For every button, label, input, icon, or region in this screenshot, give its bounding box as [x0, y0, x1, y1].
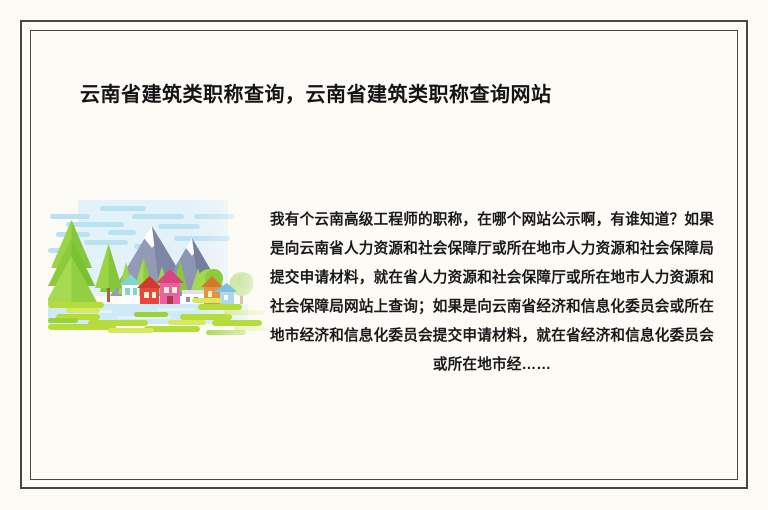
article-excerpt: 我有个云南高级工程师的职称，在哪个网站公示啊，有谁知道？如果是向云南省人力资源和… [270, 206, 714, 380]
page-root: 云南省建筑类职称查询，云南省建筑类职称查询网站 [0, 0, 768, 510]
landscape-illustration [48, 192, 274, 336]
page-title: 云南省建筑类职称查询，云南省建筑类职称查询网站 [80, 80, 700, 110]
